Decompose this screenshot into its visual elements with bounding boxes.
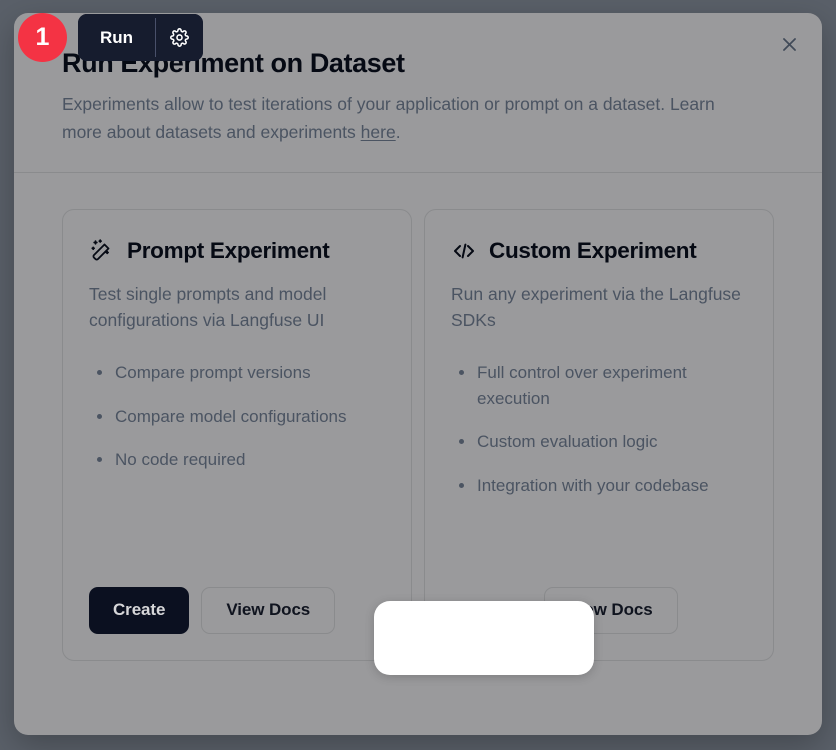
custom-experiment-card[interactable]: Custom Experiment Run any experiment via…	[424, 209, 774, 661]
prompt-view-docs-button[interactable]: View Docs	[201, 587, 335, 634]
prompt-experiment-description: Test single prompts and model configurat…	[89, 281, 385, 335]
create-button[interactable]: Create	[89, 587, 189, 634]
prompt-experiment-header: Prompt Experiment	[89, 238, 385, 264]
learn-more-link[interactable]: here	[361, 122, 396, 142]
run-settings-button[interactable]	[156, 14, 203, 61]
close-icon	[780, 35, 799, 54]
prompt-experiment-feature-list: Compare prompt versions Compare model co…	[89, 360, 385, 576]
prompt-experiment-actions: Create View Docs	[89, 587, 385, 634]
custom-experiment-header: Custom Experiment	[451, 238, 747, 264]
gear-icon	[170, 28, 189, 47]
custom-experiment-feature-list: Full control over experiment execution C…	[451, 360, 747, 576]
custom-experiment-description: Run any experiment via the Langfuse SDKs	[451, 281, 747, 335]
close-button[interactable]	[774, 29, 804, 59]
prompt-experiment-title: Prompt Experiment	[127, 238, 329, 264]
list-item: Compare prompt versions	[89, 360, 385, 386]
list-item: Integration with your codebase	[451, 473, 747, 499]
dialog-description-text-2: .	[396, 122, 401, 142]
magic-wand-icon	[89, 238, 115, 264]
custom-experiment-title: Custom Experiment	[489, 238, 696, 264]
dialog-description: Experiments allow to test iterations of …	[62, 91, 752, 145]
run-button[interactable]: Run	[78, 14, 155, 61]
code-brackets-icon	[451, 238, 477, 264]
list-item: Custom evaluation logic	[451, 429, 747, 455]
run-button-highlight	[374, 601, 594, 675]
run-split-button[interactable]: Run	[78, 14, 203, 61]
list-item: Compare model configurations	[89, 404, 385, 430]
step-number-badge: 1	[18, 13, 67, 62]
list-item: Full control over experiment execution	[451, 360, 747, 411]
list-item: No code required	[89, 447, 385, 473]
prompt-experiment-card[interactable]: Prompt Experiment Test single prompts an…	[62, 209, 412, 661]
dialog-body: Prompt Experiment Test single prompts an…	[14, 173, 822, 661]
